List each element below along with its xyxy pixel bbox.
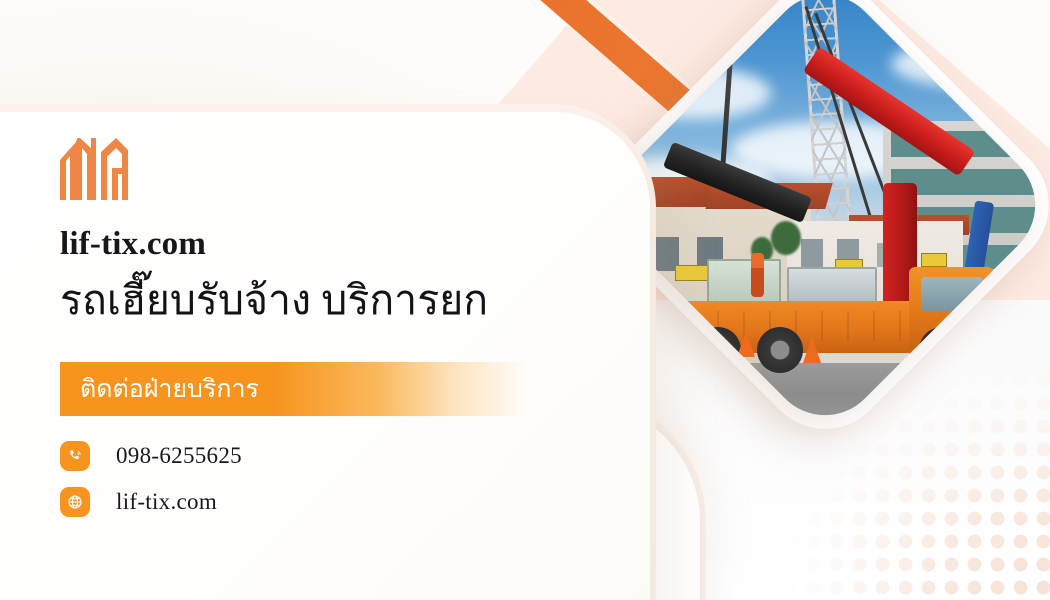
halftone-dots-pattern	[756, 346, 1050, 600]
headline: รถเฮี๊ยบรับจ้าง บริการยก	[60, 278, 488, 324]
contact-row-website[interactable]: lif-tix.com	[60, 480, 520, 524]
content-column: lif-tix.com รถเฮี๊ยบรับจ้าง บริการยก ติด…	[60, 0, 620, 600]
banner-stage: lif-tix.com รถเฮี๊ยบรับจ้าง บริการยก ติด…	[0, 0, 1050, 600]
cta-label: ติดต่อฝ่ายบริการ	[60, 369, 259, 409]
globe-icon	[60, 487, 90, 517]
contact-row-phone[interactable]: 098-6255625	[60, 434, 520, 478]
cargo-crate	[787, 267, 877, 303]
foliage	[771, 221, 801, 255]
traffic-cone	[737, 331, 755, 357]
window	[801, 239, 823, 267]
yellow-sign	[675, 265, 709, 281]
cargo-crate	[707, 259, 781, 305]
contact-list: 098-6255625 lif-tix.com	[60, 434, 520, 526]
phone-icon	[60, 441, 90, 471]
phone-number: 098-6255625	[116, 443, 242, 469]
yellow-sign	[921, 253, 947, 267]
website-url: lif-tix.com	[116, 489, 217, 515]
cta-banner[interactable]: ติดต่อฝ่ายบริการ	[60, 362, 528, 416]
brand-name: lif-tix.com	[60, 226, 206, 263]
worker	[751, 253, 764, 297]
building-logo-icon	[60, 138, 128, 200]
